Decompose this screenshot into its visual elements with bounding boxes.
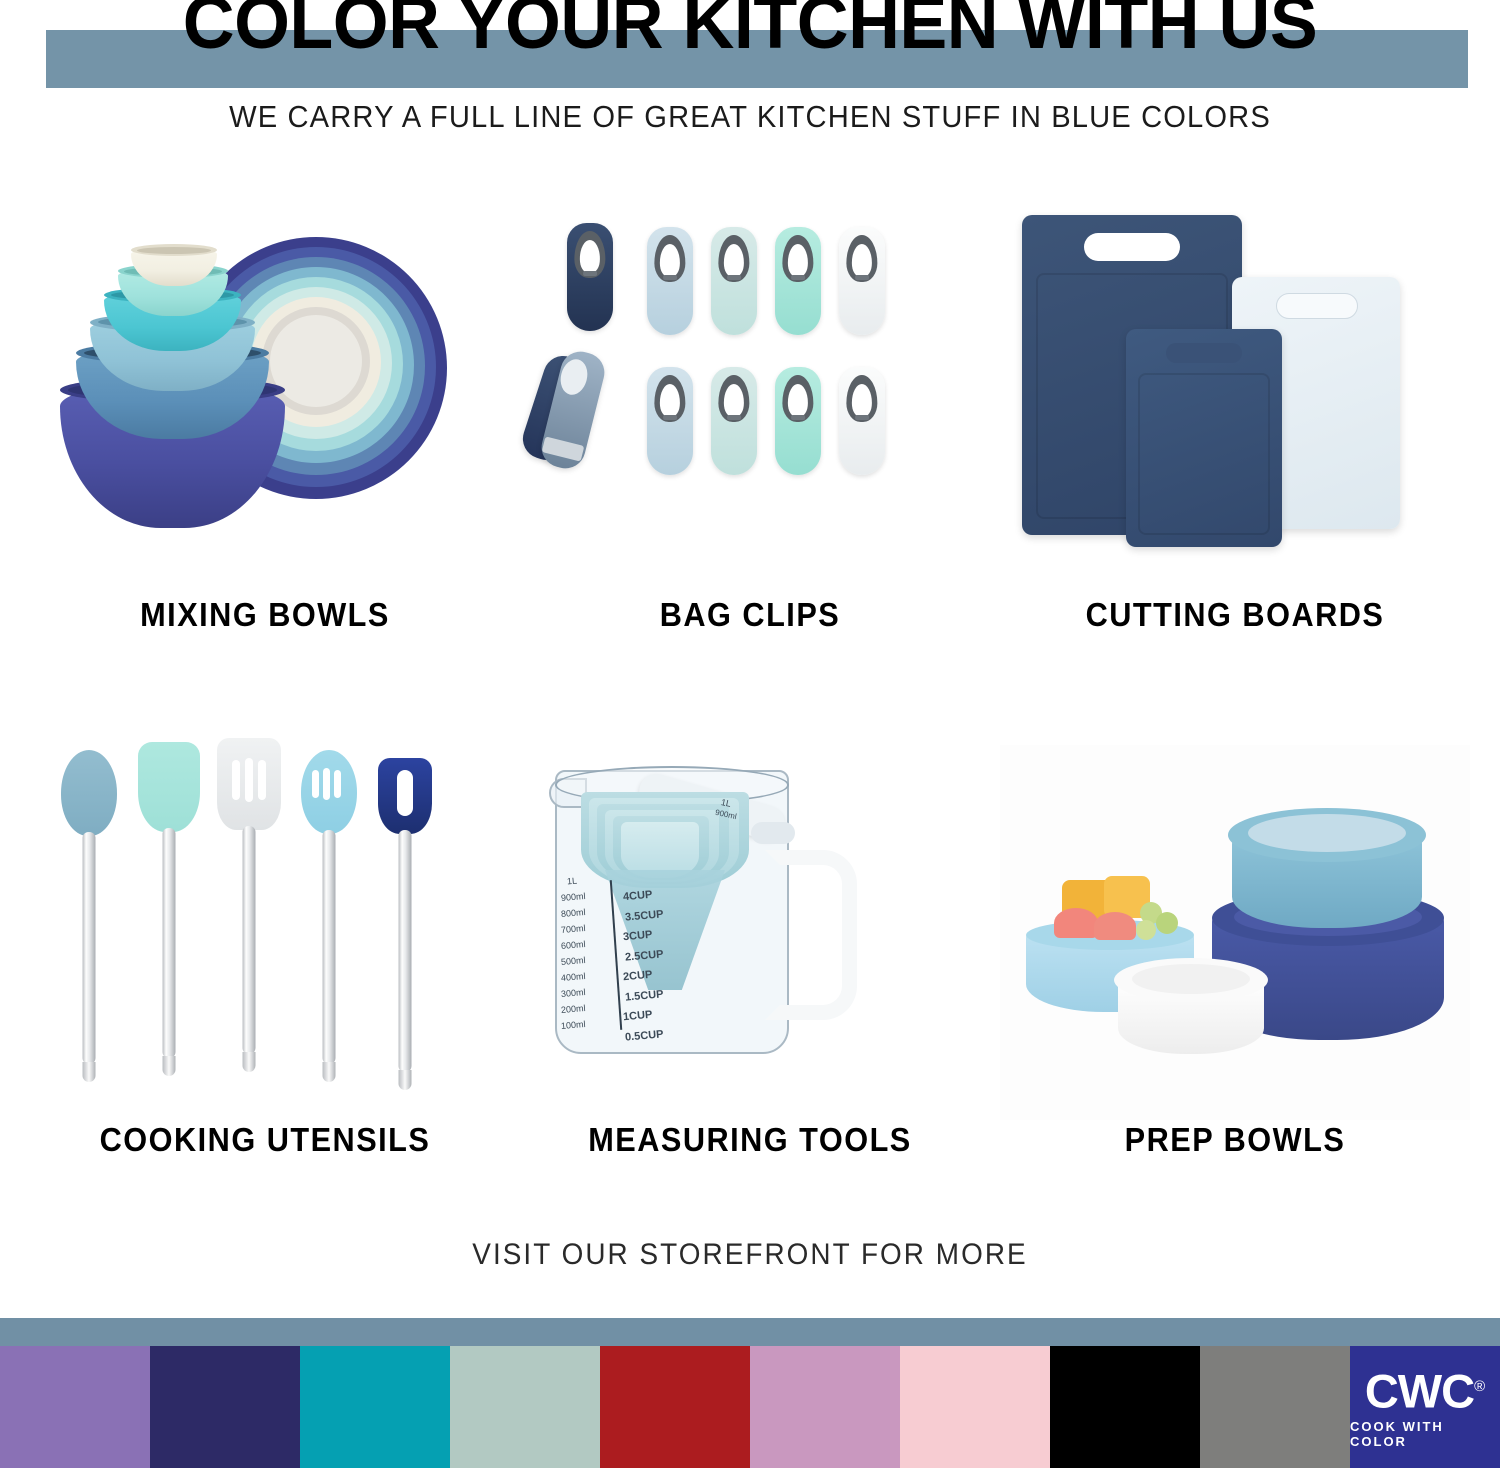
product-label: MIXING BOWLS xyxy=(46,597,483,633)
product-card-measuring-tools[interactable]: 1L 900ml 800ml 700ml 600ml 500ml 400ml 3… xyxy=(515,730,985,1200)
product-card-cooking-utensils[interactable]: COOKING UTENSILS xyxy=(30,730,500,1200)
product-grid: MIXING BOWLS xyxy=(0,205,1500,1200)
cooking-utensils-image xyxy=(30,730,500,1120)
logo-tagline: COOK WITH COLOR xyxy=(1350,1419,1500,1449)
logo-mark-text: CWC xyxy=(1365,1365,1474,1418)
storefront-callout[interactable]: VISIT OUR STOREFRONT FOR MORE xyxy=(53,1238,1448,1272)
product-label: MEASURING TOOLS xyxy=(531,1122,968,1158)
color-swatch-grey xyxy=(1200,1346,1350,1468)
color-swatch-mauve xyxy=(750,1346,900,1468)
measuring-tools-image: 1L 900ml 800ml 700ml 600ml 500ml 400ml 3… xyxy=(515,730,985,1120)
color-swatch-strip: CWC® COOK WITH COLOR xyxy=(0,1346,1500,1468)
page-subtitle: WE CARRY A FULL LINE OF GREAT KITCHEN ST… xyxy=(45,100,1455,134)
prep-bowls-image xyxy=(1000,730,1470,1120)
color-swatch-red xyxy=(600,1346,750,1468)
brand-logo: CWC® COOK WITH COLOR xyxy=(1350,1346,1500,1468)
product-card-mixing-bowls[interactable]: MIXING BOWLS xyxy=(30,205,500,675)
infographic-canvas: COLOR YOUR KITCHEN WITH US WE CARRY A FU… xyxy=(0,0,1500,1468)
product-card-bag-clips[interactable]: BAG CLIPS xyxy=(515,205,985,675)
bag-clips-image xyxy=(515,205,985,595)
mixing-bowls-image xyxy=(30,205,500,595)
color-swatch-royal-blue: CWC® COOK WITH COLOR xyxy=(1350,1346,1500,1468)
product-card-prep-bowls[interactable]: PREP BOWLS xyxy=(1000,730,1470,1200)
color-swatch-purple xyxy=(0,1346,150,1468)
registered-trademark-icon: ® xyxy=(1474,1378,1485,1395)
color-strip-band xyxy=(0,1318,1500,1346)
product-label: BAG CLIPS xyxy=(531,597,968,633)
product-card-cutting-boards[interactable]: CUTTING BOARDS xyxy=(1000,205,1470,675)
color-swatch-sage xyxy=(450,1346,600,1468)
logo-wordmark: CWC® xyxy=(1365,1365,1485,1414)
color-swatch-teal xyxy=(300,1346,450,1468)
color-swatch-pink xyxy=(900,1346,1050,1468)
product-row-2: COOKING UTENSILS xyxy=(0,730,1500,1200)
product-label: COOKING UTENSILS xyxy=(46,1122,483,1158)
page-title: COLOR YOUR KITCHEN WITH US xyxy=(23,0,1478,60)
product-row-1: MIXING BOWLS xyxy=(0,205,1500,675)
product-label: CUTTING BOARDS xyxy=(1016,597,1453,633)
product-label: PREP BOWLS xyxy=(1016,1122,1453,1158)
color-swatch-navy xyxy=(150,1346,300,1468)
color-swatch-black xyxy=(1050,1346,1200,1468)
cutting-boards-image xyxy=(1000,205,1470,595)
